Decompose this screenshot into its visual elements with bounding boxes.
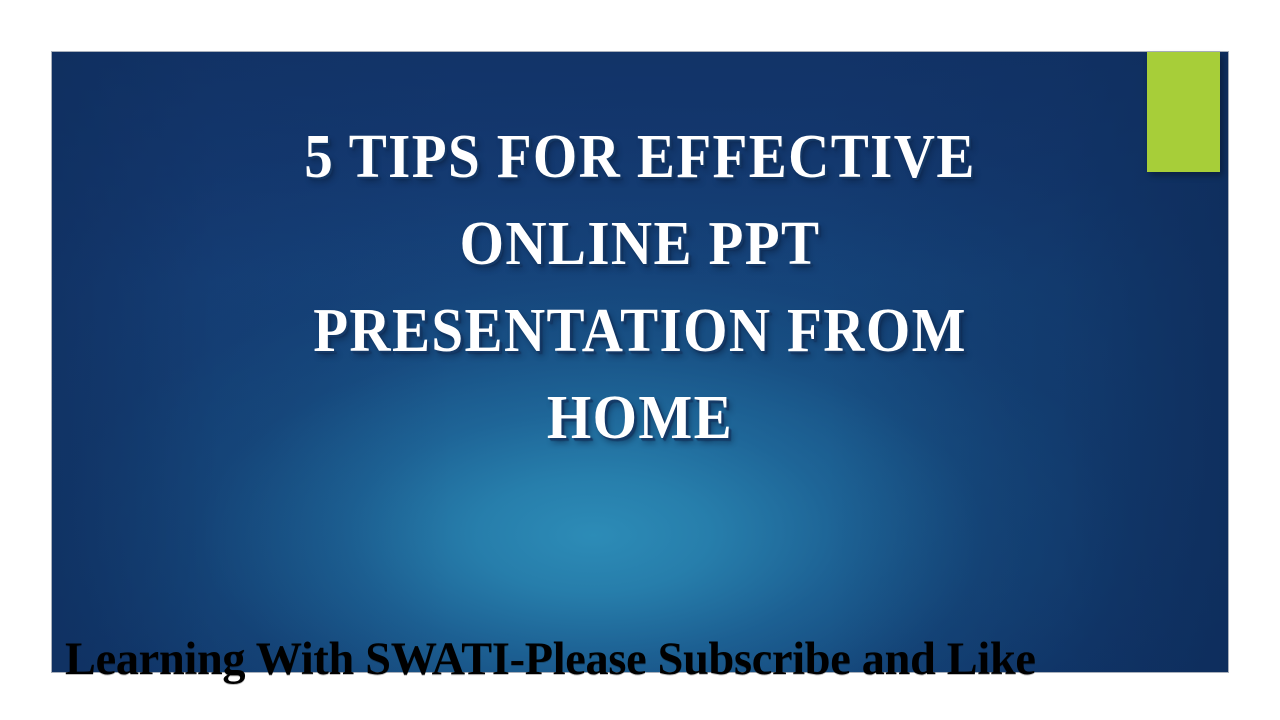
presentation-screen: 5 Tips for Effective Online PPT Presenta… <box>0 0 1280 720</box>
title-line-3: Presentation from <box>154 288 1126 375</box>
title-line-2: Online PPT <box>154 201 1126 288</box>
subscribe-caption: Learning With SWATI-Please Subscribe and… <box>65 629 1036 689</box>
title-line-4: Home <box>154 375 1126 462</box>
slide-title[interactable]: 5 Tips for Effective Online PPT Presenta… <box>52 114 1228 462</box>
slide-canvas[interactable]: 5 Tips for Effective Online PPT Presenta… <box>52 52 1228 672</box>
title-line-1: 5 Tips for Effective <box>154 114 1126 201</box>
green-accent-rectangle <box>1147 52 1220 172</box>
